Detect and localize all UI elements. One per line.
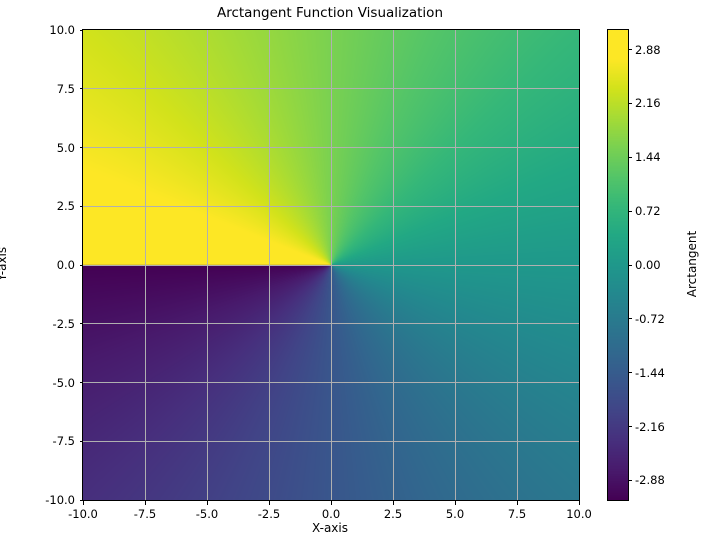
y-axis-label: Y-axis [0, 247, 9, 281]
x-axis-label: X-axis [82, 521, 578, 535]
colorbar-gradient [608, 30, 628, 500]
y-tick-mark [80, 323, 84, 324]
x-tick-label: 2.5 [384, 507, 402, 521]
colorbar-tick-mark [628, 318, 632, 319]
gridline-horizontal [83, 323, 579, 324]
colorbar-tick-mark [628, 372, 632, 373]
x-tick-mark [207, 501, 208, 505]
plot-axes: -10.0-7.5-5.0-2.50.02.55.07.510.0 -10.0-… [82, 29, 580, 501]
gridline-horizontal [83, 88, 579, 89]
gridline-horizontal [83, 265, 579, 266]
y-tick-label: -2.5 [53, 317, 75, 331]
gridline-horizontal [83, 441, 579, 442]
y-tick-label: 5.0 [57, 141, 75, 155]
y-tick-label: 2.5 [57, 199, 75, 213]
colorbar-tick-label: -2.16 [635, 420, 665, 434]
y-tick-label: 10.0 [49, 23, 75, 37]
y-tick-label: -10.0 [45, 493, 75, 507]
x-tick-label: -2.5 [258, 507, 280, 521]
y-tick-mark [80, 500, 84, 501]
colorbar-tick-label: 0.72 [635, 204, 661, 218]
y-tick-label: -5.0 [53, 376, 75, 390]
gridline-horizontal [83, 147, 579, 148]
x-tick-label: -10.0 [68, 507, 98, 521]
matplotlib-figure: Arctangent Function Visualization -10.0-… [0, 0, 713, 547]
y-tick-mark [80, 147, 84, 148]
y-tick-label: 7.5 [57, 82, 75, 96]
y-tick-label: -7.5 [53, 434, 75, 448]
colorbar-tick-mark [628, 265, 632, 266]
x-tick-label: 10.0 [566, 507, 592, 521]
x-tick-mark [83, 501, 84, 505]
y-tick-mark [80, 382, 84, 383]
x-tick-label: -5.0 [196, 507, 218, 521]
x-tick-mark [145, 501, 146, 505]
colorbar-tick-label: -2.88 [635, 473, 665, 487]
y-tick-label: 0.0 [57, 258, 75, 272]
colorbar-tick-mark [628, 480, 632, 481]
colorbar-tick-label: -0.72 [635, 312, 665, 326]
x-tick-mark [269, 501, 270, 505]
colorbar: -2.88-2.16-1.44-0.720.000.721.442.162.88 [607, 29, 629, 501]
colorbar-tick-label: 1.44 [635, 150, 661, 164]
x-tick-mark [517, 501, 518, 505]
colorbar-tick-mark [628, 157, 632, 158]
colorbar-tick-mark [628, 49, 632, 50]
y-tick-mark [80, 88, 84, 89]
colorbar-tick-label: 0.00 [635, 258, 661, 272]
colorbar-tick-mark [628, 103, 632, 104]
colorbar-tick-label: 2.88 [635, 43, 661, 57]
y-tick-mark [80, 30, 84, 31]
gridline-horizontal [83, 206, 579, 207]
x-tick-mark [393, 501, 394, 505]
x-tick-mark [579, 501, 580, 505]
y-tick-mark [80, 206, 84, 207]
x-tick-mark [331, 501, 332, 505]
x-tick-label: -7.5 [134, 507, 156, 521]
colorbar-tick-mark [628, 426, 632, 427]
x-tick-label: 7.5 [508, 507, 526, 521]
gridline-horizontal [83, 382, 579, 383]
colorbar-tick-mark [628, 211, 632, 212]
chart-title: Arctangent Function Visualization [82, 5, 578, 21]
colorbar-label: Arctangent [685, 231, 699, 297]
x-tick-label: 0.0 [322, 507, 340, 521]
x-tick-mark [455, 501, 456, 505]
colorbar-tick-label: 2.16 [635, 96, 661, 110]
y-tick-mark [80, 441, 84, 442]
x-tick-label: 5.0 [446, 507, 464, 521]
y-tick-mark [80, 265, 84, 266]
colorbar-tick-label: -1.44 [635, 366, 665, 380]
